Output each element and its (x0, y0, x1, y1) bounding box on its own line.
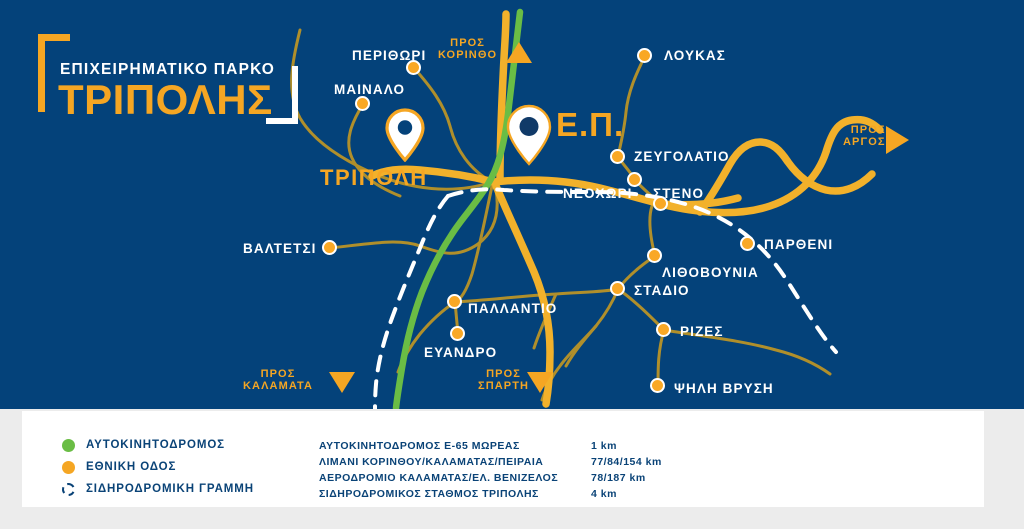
legend-distance-name: ΑΥΤΟΚΙΝΗΤΟΔΡΟΜΟΣ Ε-65 ΜΩΡΕΑΣ (319, 440, 591, 452)
title-main: ΤΡΙΠΟΛΗΣ (58, 79, 273, 121)
direction-arrow-down-icon (329, 372, 355, 393)
town-label: ΨΗΛΗ ΒΡΥΣΗ (674, 382, 774, 396)
town-label: ΛΟΥΚΑΣ (664, 49, 726, 63)
direction-label: ΠΡΟΣΚΑΛΑΜΑΤΑ (243, 369, 313, 392)
tripoli-label: ΤΡΙΠΟΛΗ (320, 166, 428, 189)
town-label: ΖΕΥΓΟΛΑΤΙΟ (634, 150, 730, 164)
town-node[interactable] (650, 378, 665, 393)
town-node[interactable] (610, 149, 625, 164)
town-node[interactable] (656, 322, 671, 337)
town-label: ΣΤΕΝΟ (653, 187, 704, 201)
town-label: ΡΙΖΕΣ (680, 325, 724, 339)
legend-key: ΑΥΤΟΚΙΝΗΤΟΔΡΟΜΟΣ (62, 434, 254, 456)
ep-pin-icon[interactable] (506, 104, 552, 166)
legend-swatch-rail-icon (62, 483, 75, 496)
town-node[interactable] (447, 294, 462, 309)
business-park-tripoli-map: ΕΠΙΧΕΙΡΗΜΑΤΙΚΟ ΠΑΡΚΟ ΤΡΙΠΟΛΗΣ ΤΡΙΠΟΛΗ Ε.… (0, 0, 1024, 529)
ep-label: Ε.Π. (556, 108, 624, 143)
direction-label: ΠΡΟΣΚΟΡΙΝΘΟ (438, 38, 497, 61)
direction-label: ΠΡΟΣΣΠΑΡΤΗ (478, 369, 529, 392)
legend-key-label: ΕΘΝΙΚΗ ΟΔΟΣ (86, 461, 176, 473)
legend-distance-row: ΣΙΔΗΡΟΔΡΟΜΙΚΟΣ ΣΤΑΘΜΟΣ ΤΡΙΠΟΛΗΣ4 km (319, 486, 662, 502)
legend-distance-row: ΛΙΜΑΝΙ ΚΟΡΙΝΘΟΥ/ΚΑΛΑΜΑΤΑΣ/ΠΕΙΡΑΙΑ77/84/1… (319, 454, 662, 470)
legend-distance-table: ΑΥΤΟΚΙΝΗΤΟΔΡΟΜΟΣ Ε-65 ΜΩΡΕΑΣ1 kmΛΙΜΑΝΙ Κ… (319, 438, 662, 502)
legend-distance-name: ΛΙΜΑΝΙ ΚΟΡΙΝΘΟΥ/ΚΑΛΑΜΑΤΑΣ/ΠΕΙΡΑΙΑ (319, 456, 591, 468)
legend-swatch-green-icon (62, 439, 75, 452)
town-label: ΝΕΟΧΩΡΙ (563, 187, 633, 201)
legend-distance-value: 78/187 km (591, 472, 646, 484)
town-label: ΠΑΛΛΑΝΤΙΟ (468, 302, 557, 316)
legend-panel: ΑΥΤΟΚΙΝΗΤΟΔΡΟΜΟΣΕΘΝΙΚΗ ΟΔΟΣΣΙΔΗΡΟΔΡΟΜΙΚΗ… (22, 411, 984, 507)
town-node[interactable] (627, 172, 642, 187)
direction-arrow-right-icon (886, 126, 909, 154)
legend-distance-value: 1 km (591, 440, 617, 452)
legend-key-label: ΑΥΤΟΚΙΝΗΤΟΔΡΟΜΟΣ (86, 439, 225, 451)
town-label: ΒΑΛΤΕΤΣΙ (243, 242, 317, 256)
town-label: ΠΕΡΙΘΩΡΙ (352, 49, 426, 63)
town-label: ΣΤΑΔΙΟ (634, 284, 690, 298)
legend-distance-row: ΑΥΤΟΚΙΝΗΤΟΔΡΟΜΟΣ Ε-65 ΜΩΡΕΑΣ1 km (319, 438, 662, 454)
town-label: ΠΑΡΘΕΝΙ (764, 238, 833, 252)
town-node[interactable] (322, 240, 337, 255)
town-node[interactable] (355, 96, 370, 111)
legend-key: ΕΘΝΙΚΗ ΟΔΟΣ (62, 456, 254, 478)
legend-distance-value: 77/84/154 km (591, 456, 662, 468)
town-node[interactable] (647, 248, 662, 263)
town-node[interactable] (450, 326, 465, 341)
town-label: ΛΙΘΟΒΟΥΝΙΑ (662, 266, 759, 280)
title-block: ΕΠΙΧΕΙΡΗΜΑΤΙΚΟ ΠΑΡΚΟ ΤΡΙΠΟΛΗΣ (38, 34, 308, 136)
town-label: ΜΑΙΝΑΛΟ (334, 83, 405, 97)
legend-key-list: ΑΥΤΟΚΙΝΗΤΟΔΡΟΜΟΣΕΘΝΙΚΗ ΟΔΟΣΣΙΔΗΡΟΔΡΟΜΙΚΗ… (62, 434, 254, 500)
direction-arrow-down-icon (527, 372, 553, 393)
legend-key-label: ΣΙΔΗΡΟΔΡΟΜΙΚΗ ΓΡΑΜΜΗ (86, 483, 254, 495)
direction-label: ΠΡΟΣΑΡΓΟΣ (843, 125, 886, 148)
legend-key: ΣΙΔΗΡΟΔΡΟΜΙΚΗ ΓΡΑΜΜΗ (62, 478, 254, 500)
town-label: ΕΥΑΝΔΡΟ (424, 346, 497, 360)
tripoli-pin-icon[interactable] (385, 108, 425, 162)
legend-swatch-orange-icon (62, 461, 75, 474)
legend-distance-row: ΑΕΡΟΔΡΟΜΙΟ ΚΑΛΑΜΑΤΑΣ/ΕΛ. ΒΕΝΙΖΕΛΟΣ78/187… (319, 470, 662, 486)
direction-arrow-up-icon (506, 42, 532, 63)
legend-distance-name: ΣΙΔΗΡΟΔΡΟΜΙΚΟΣ ΣΤΑΘΜΟΣ ΤΡΙΠΟΛΗΣ (319, 488, 591, 500)
legend-distance-name: ΑΕΡΟΔΡΟΜΙΟ ΚΑΛΑΜΑΤΑΣ/ΕΛ. ΒΕΝΙΖΕΛΟΣ (319, 472, 591, 484)
railway-line (375, 189, 836, 409)
town-node[interactable] (740, 236, 755, 251)
town-node[interactable] (637, 48, 652, 63)
legend-distance-value: 4 km (591, 488, 617, 500)
town-node[interactable] (610, 281, 625, 296)
map-canvas[interactable]: ΕΠΙΧΕΙΡΗΜΑΤΙΚΟ ΠΑΡΚΟ ΤΡΙΠΟΛΗΣ ΤΡΙΠΟΛΗ Ε.… (0, 0, 1024, 409)
